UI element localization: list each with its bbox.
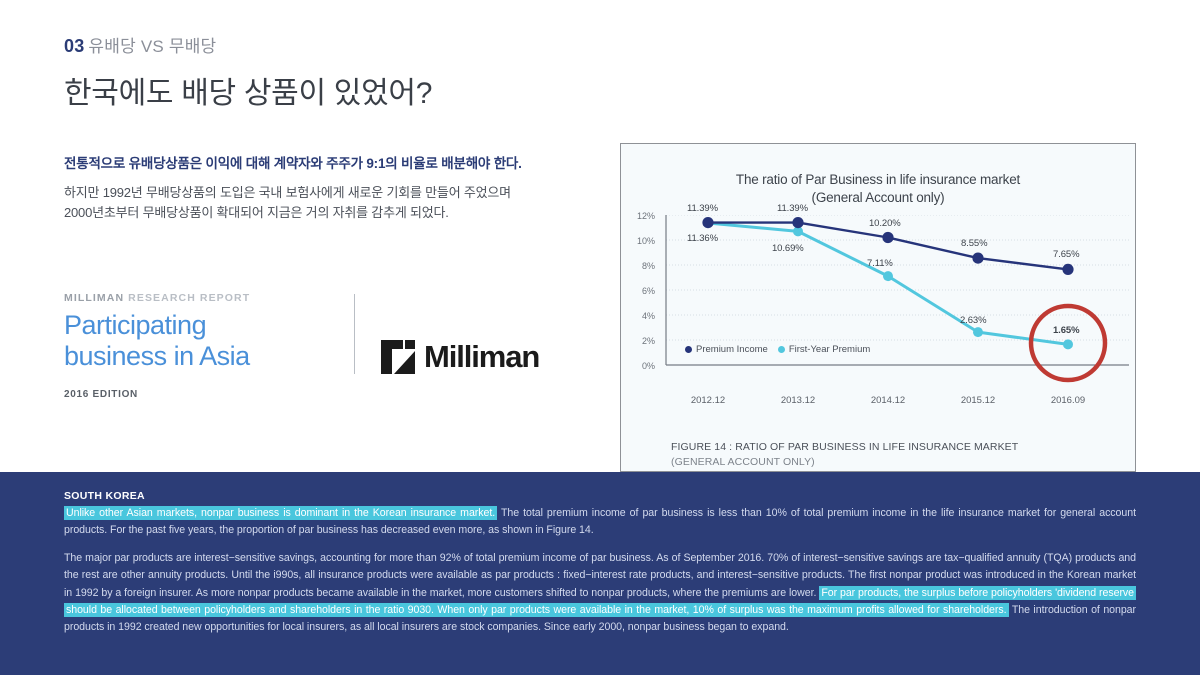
legend-item-first-year-premium[interactable]: First-Year Premium bbox=[778, 344, 870, 355]
data-label-premium-2013: 11.39% bbox=[777, 203, 808, 214]
left-text-column: 전통적으로 유배당상품은 이익에 대해 계약자와 주주가 9:1의 비율로 배분… bbox=[64, 152, 594, 223]
milliman-logo-icon bbox=[381, 340, 415, 374]
legend-label-premium-income: Premium Income bbox=[696, 344, 768, 355]
data-label-fyp-2013: 10.69% bbox=[772, 243, 804, 254]
report-edition: 2016 EDITION bbox=[64, 389, 338, 400]
section-eyebrow-label: 유배당 VS 무배당 bbox=[88, 37, 216, 56]
supporting-paragraph-line-1: 하지만 1992년 무배당상품의 도입은 국내 보험사에게 새로운 기회를 만들… bbox=[64, 183, 594, 203]
report-cover-block: MILLIMAN RESEARCH REPORT Participating b… bbox=[64, 292, 554, 400]
data-label-premium-2012: 11.39% bbox=[687, 203, 718, 214]
chart-title: The ratio of Par Business in life insura… bbox=[621, 144, 1135, 207]
data-label-premium-2014: 10.20% bbox=[869, 218, 901, 229]
chart-title-line-1: The ratio of Par Business in life insura… bbox=[621, 171, 1135, 189]
chart-legend: Premium Income First-Year Premium bbox=[685, 344, 870, 355]
footer-paragraph-1: Unlike other Asian markets, nonpar busin… bbox=[64, 505, 1136, 539]
report-kicker: MILLIMAN RESEARCH REPORT bbox=[64, 292, 338, 304]
footer-paragraph-2: The major par products are interest−sens… bbox=[64, 550, 1136, 636]
lede-statement: 전통적으로 유배당상품은 이익에 대해 계약자와 주주가 9:1의 비율로 배분… bbox=[64, 152, 594, 172]
data-label-fyp-2014: 7.11% bbox=[867, 258, 893, 269]
report-cover-text: MILLIMAN RESEARCH REPORT Participating b… bbox=[64, 292, 354, 400]
legend-label-first-year-premium: First-Year Premium bbox=[789, 344, 870, 355]
x-tick-2013: 2013.12 bbox=[768, 395, 828, 406]
legend-dot-icon-premium-income bbox=[685, 346, 692, 353]
figure-caption-line-2: (GENERAL ACCOUNT ONLY) bbox=[671, 455, 1018, 470]
report-title: Participating business in Asia bbox=[64, 310, 338, 373]
chart-card: The ratio of Par Business in life insura… bbox=[620, 143, 1136, 472]
report-title-line-1: Participating bbox=[64, 310, 338, 341]
chart-plot-area: 12% 10% 8% 6% 4% 2% 0% bbox=[621, 215, 1137, 390]
page-title: 한국에도 배당 상품이 있었어? bbox=[64, 68, 432, 112]
report-title-line-2: business in Asia bbox=[64, 341, 338, 372]
figure-caption: FIGURE 14 : RATIO OF PAR BUSINESS IN LIF… bbox=[671, 440, 1018, 470]
section-eyebrow: 03유배당 VS 무배당 bbox=[64, 32, 432, 57]
report-kicker-type: RESEARCH REPORT bbox=[128, 292, 250, 304]
x-tick-2014: 2014.12 bbox=[858, 395, 918, 406]
data-label-premium-2016: 7.65% bbox=[1053, 249, 1079, 260]
x-tick-2016: 2016.09 bbox=[1038, 395, 1098, 406]
section-number: 03 bbox=[64, 36, 84, 56]
milliman-wordmark: Milliman bbox=[424, 339, 539, 375]
data-label-fyp-2016-highlighted: 1.65% bbox=[1053, 325, 1079, 336]
data-label-premium-2015: 8.55% bbox=[961, 238, 987, 249]
country-heading: SOUTH KOREA bbox=[64, 490, 1136, 502]
supporting-paragraph: 하지만 1992년 무배당상품의 도입은 국내 보험사에게 새로운 기회를 만들… bbox=[64, 183, 594, 223]
x-tick-2015: 2015.12 bbox=[948, 395, 1008, 406]
supporting-paragraph-line-2: 2000년초부터 무배당상품이 확대되어 지금은 거의 자취를 감추게 되었다. bbox=[64, 203, 594, 223]
milliman-brand-lockup: Milliman bbox=[355, 334, 539, 380]
data-label-fyp-2012: 11.36% bbox=[687, 233, 718, 244]
x-tick-2012: 2012.12 bbox=[678, 395, 738, 406]
figure-caption-line-1: FIGURE 14 : RATIO OF PAR BUSINESS IN LIF… bbox=[671, 440, 1018, 455]
footer-content: SOUTH KOREA Unlike other Asian markets, … bbox=[0, 472, 1200, 636]
data-label-fyp-2015: 2.63% bbox=[960, 315, 986, 326]
slide-header: 03유배당 VS 무배당 한국에도 배당 상품이 있었어? bbox=[64, 32, 432, 112]
legend-dot-icon-first-year-premium bbox=[778, 346, 785, 353]
footer-text-band: SOUTH KOREA Unlike other Asian markets, … bbox=[0, 472, 1200, 675]
legend-item-premium-income[interactable]: Premium Income bbox=[685, 344, 768, 355]
highlighted-sentence-1: Unlike other Asian markets, nonpar busin… bbox=[64, 506, 497, 520]
report-kicker-brand: MILLIMAN bbox=[64, 292, 124, 304]
